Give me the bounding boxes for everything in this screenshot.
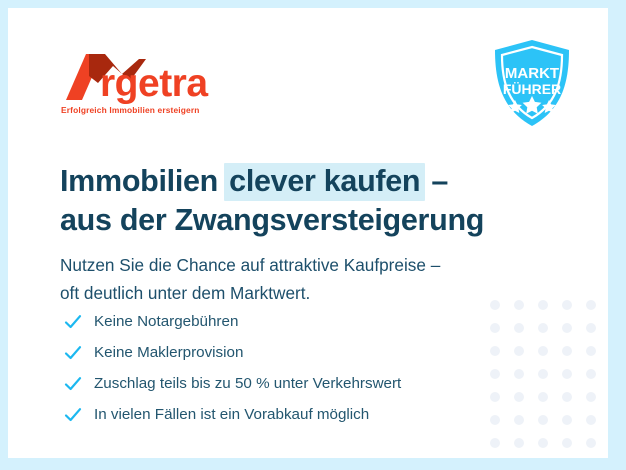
argetra-logo[interactable]: rgetra Erfolgreich Immobilien ersteigern bbox=[60, 52, 260, 122]
headline-line2: aus der Zwangsversteigerung bbox=[60, 201, 530, 240]
decorative-dot bbox=[586, 300, 596, 310]
decorative-dot bbox=[586, 392, 596, 402]
logo-tagline: Erfolgreich Immobilien ersteigern bbox=[61, 105, 200, 115]
svg-text:rgetra: rgetra bbox=[100, 62, 208, 104]
decorative-dot bbox=[538, 323, 548, 333]
decorative-dot bbox=[562, 323, 572, 333]
decorative-dot bbox=[490, 438, 500, 448]
benefit-list: Keine Notargebühren Keine Maklerprovisio… bbox=[64, 306, 534, 430]
logo-mark: rgetra bbox=[60, 52, 246, 104]
benefit-label: In vielen Fällen ist ein Vorabkauf mögli… bbox=[94, 407, 369, 422]
subtitle: Nutzen Sie die Chance auf attraktive Kau… bbox=[60, 251, 540, 307]
check-icon bbox=[64, 313, 82, 331]
decorative-dot bbox=[538, 392, 548, 402]
decorative-dot bbox=[538, 438, 548, 448]
list-item: In vielen Fällen ist ein Vorabkauf mögli… bbox=[64, 399, 534, 430]
headline-part2: – bbox=[423, 164, 448, 198]
decorative-dot bbox=[586, 438, 596, 448]
headline-part1: Immobilien bbox=[60, 164, 226, 198]
decorative-dot bbox=[562, 415, 572, 425]
headline-highlight: clever kaufen bbox=[224, 163, 425, 201]
list-item: Zuschlag teils bis zu 50 % unter Verkehr… bbox=[64, 368, 534, 399]
badge-line2: FÜHRER bbox=[503, 81, 561, 97]
decorative-dot bbox=[586, 369, 596, 379]
subtitle-line-2: oft deutlich unter dem Marktwert. bbox=[60, 279, 540, 307]
decorative-dot bbox=[562, 300, 572, 310]
decorative-dot bbox=[538, 415, 548, 425]
page-title: Immobilien clever kaufen –aus der Zwangs… bbox=[60, 162, 530, 240]
decorative-dot bbox=[586, 346, 596, 356]
badge-line1: MARKT bbox=[505, 65, 559, 82]
benefit-label: Zuschlag teils bis zu 50 % unter Verkehr… bbox=[94, 376, 401, 391]
promo-banner: rgetra Erfolgreich Immobilien ersteigern… bbox=[0, 0, 626, 470]
decorative-dot bbox=[562, 438, 572, 448]
decorative-dot bbox=[562, 392, 572, 402]
decorative-dot bbox=[538, 346, 548, 356]
check-icon bbox=[64, 375, 82, 393]
markt-fuehrer-badge: MARKT FÜHRER bbox=[489, 38, 575, 130]
decorative-dot bbox=[562, 369, 572, 379]
decorative-dot bbox=[562, 346, 572, 356]
check-icon bbox=[64, 344, 82, 362]
benefit-label: Keine Notargebühren bbox=[94, 314, 238, 329]
decorative-dot bbox=[538, 369, 548, 379]
banner-card: rgetra Erfolgreich Immobilien ersteigern… bbox=[8, 8, 608, 458]
list-item: Keine Notargebühren bbox=[64, 306, 534, 337]
benefit-label: Keine Maklerprovision bbox=[94, 345, 243, 360]
list-item: Keine Maklerprovision bbox=[64, 337, 534, 368]
decorative-dot bbox=[514, 438, 524, 448]
check-icon bbox=[64, 406, 82, 424]
decorative-dot bbox=[586, 415, 596, 425]
decorative-dot bbox=[586, 323, 596, 333]
subtitle-line-1: Nutzen Sie die Chance auf attraktive Kau… bbox=[60, 251, 540, 279]
